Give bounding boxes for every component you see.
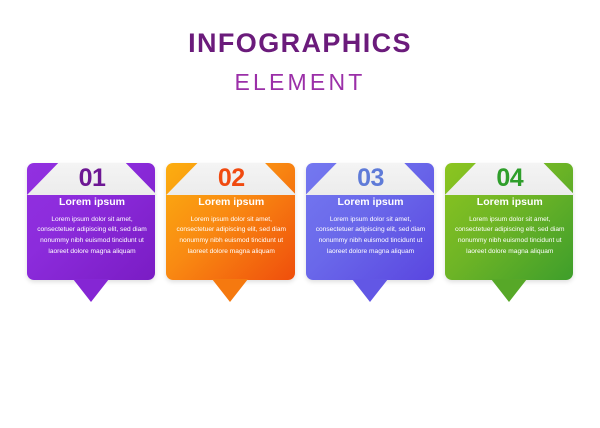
card-number-banner: 02 (166, 163, 296, 195)
card-description: Lorem ipsum dolor sit amet, consectetuer… (171, 215, 291, 258)
infographic-card-02[interactable]: 02 Lorem ipsum Lorem ipsum dolor sit ame… (166, 163, 294, 280)
card-body: Lorem ipsum Lorem ipsum dolor sit amet, … (450, 197, 570, 257)
card-description: Lorem ipsum dolor sit amet, consectetuer… (450, 215, 570, 258)
infographic-card-04[interactable]: 04 Lorem ipsum Lorem ipsum dolor sit ame… (445, 163, 573, 280)
infographic-cards-row: 01 Lorem ipsum Lorem ipsum dolor sit ame… (27, 163, 573, 308)
card-title: Lorem ipsum (311, 197, 431, 208)
card-body: Lorem ipsum Lorem ipsum dolor sit amet, … (32, 197, 152, 257)
infographic-header: INFOGRAPHICS ELEMENT (0, 30, 600, 94)
page-subtitle: ELEMENT (0, 71, 600, 94)
card-number-banner: 01 (27, 163, 157, 195)
infographic-card-01[interactable]: 01 Lorem ipsum Lorem ipsum dolor sit ame… (27, 163, 155, 280)
card-number: 01 (79, 166, 106, 191)
card-number: 02 (218, 166, 245, 191)
card-pointer-triangle (212, 279, 248, 302)
card-description: Lorem ipsum dolor sit amet, consectetuer… (311, 215, 431, 258)
card-number: 03 (357, 166, 384, 191)
card-number-banner: 03 (306, 163, 436, 195)
card-pointer-triangle (352, 279, 388, 302)
card-title: Lorem ipsum (171, 197, 291, 208)
card-title: Lorem ipsum (32, 197, 152, 208)
card-number: 04 (496, 166, 523, 191)
card-title: Lorem ipsum (450, 197, 570, 208)
page-title: INFOGRAPHICS (0, 30, 600, 57)
card-pointer-triangle (491, 279, 527, 302)
card-body: Lorem ipsum Lorem ipsum dolor sit amet, … (171, 197, 291, 257)
card-pointer-triangle (73, 279, 109, 302)
card-body: Lorem ipsum Lorem ipsum dolor sit amet, … (311, 197, 431, 257)
infographic-card-03[interactable]: 03 Lorem ipsum Lorem ipsum dolor sit ame… (306, 163, 434, 280)
card-description: Lorem ipsum dolor sit amet, consectetuer… (32, 215, 152, 258)
card-number-banner: 04 (445, 163, 575, 195)
